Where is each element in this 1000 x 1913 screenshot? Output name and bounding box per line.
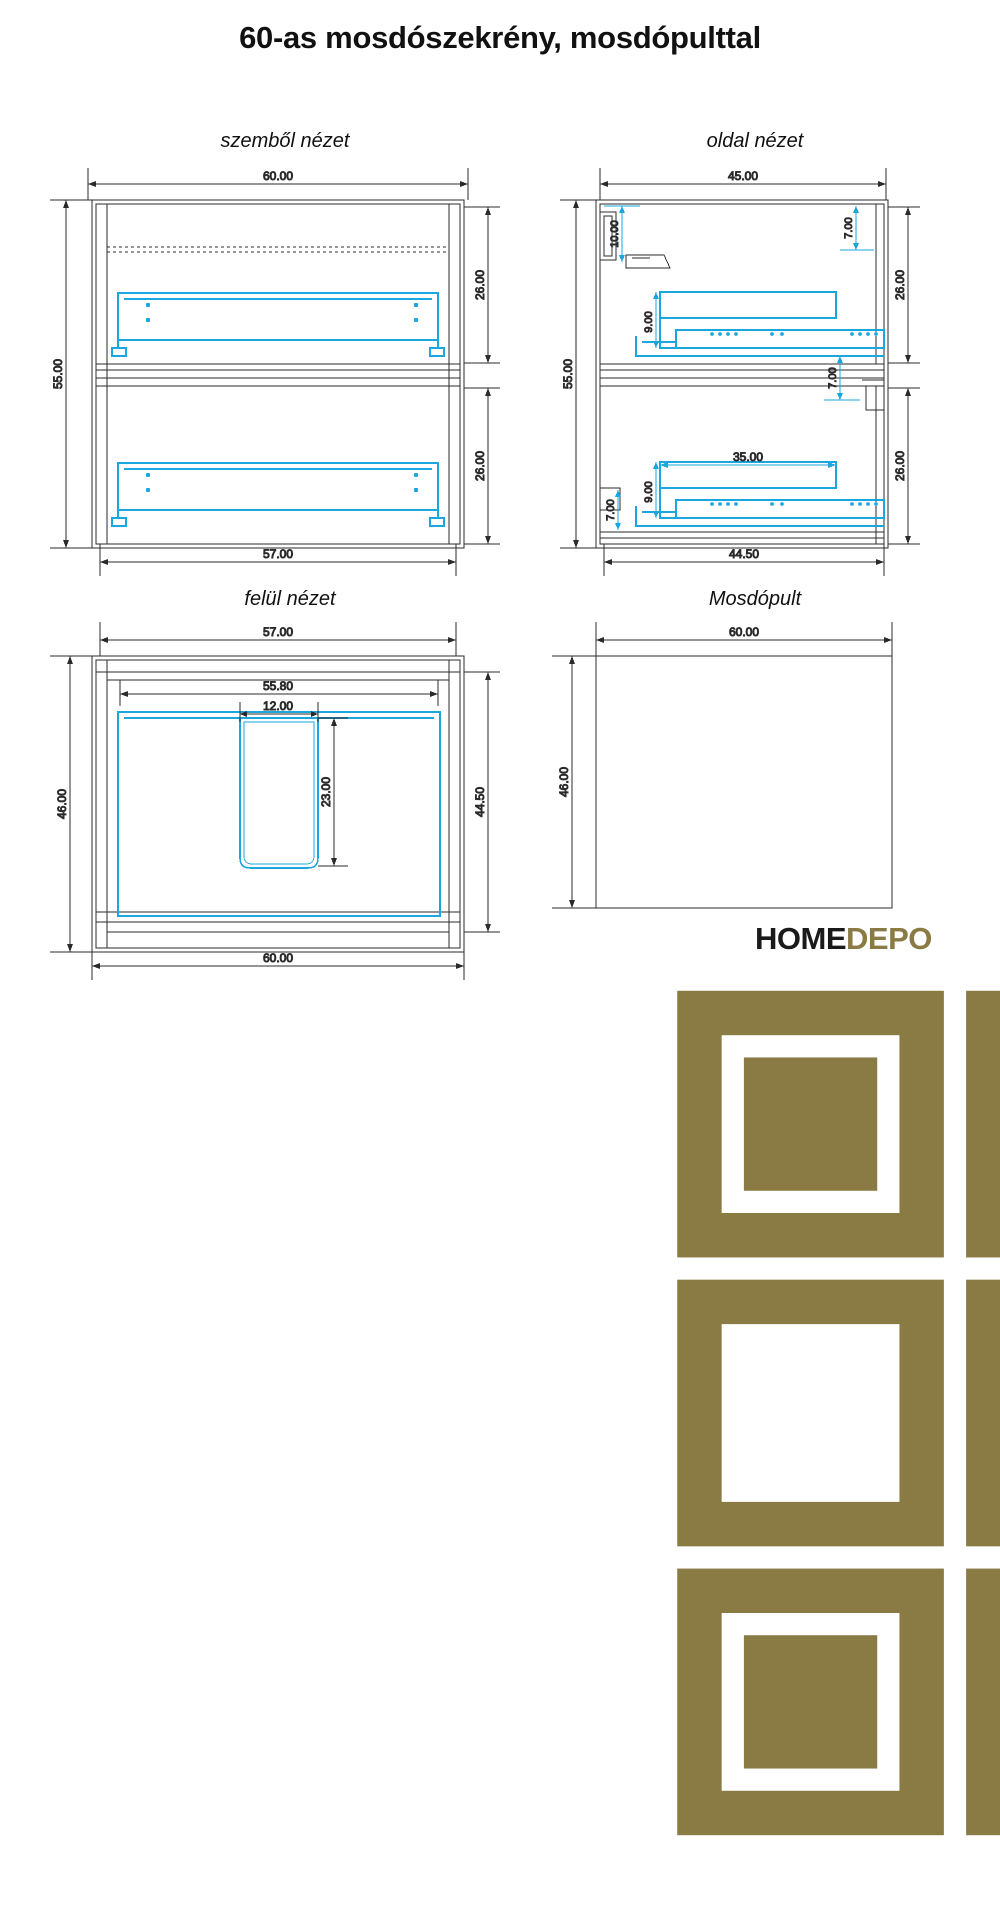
svg-text:35.00: 35.00 bbox=[733, 450, 763, 464]
technical-drawing: 60.00 bbox=[0, 0, 1000, 1000]
svg-text:45.00: 45.00 bbox=[728, 169, 758, 183]
svg-text:9.00: 9.00 bbox=[643, 311, 655, 332]
svg-text:7.00: 7.00 bbox=[827, 367, 839, 388]
svg-text:26.00: 26.00 bbox=[473, 270, 487, 300]
logo-text-home: HOME bbox=[755, 921, 846, 956]
svg-text:23.00: 23.00 bbox=[319, 777, 333, 807]
svg-text:44.50: 44.50 bbox=[729, 547, 759, 561]
svg-text:44.50: 44.50 bbox=[473, 787, 487, 817]
svg-text:26.00: 26.00 bbox=[473, 451, 487, 481]
svg-text:9.00: 9.00 bbox=[643, 481, 655, 502]
svg-text:12.00: 12.00 bbox=[263, 699, 293, 713]
svg-text:7.00: 7.00 bbox=[605, 499, 617, 520]
logo: HOMEDEPO bbox=[655, 905, 995, 985]
svg-text:55.80: 55.80 bbox=[263, 679, 293, 693]
svg-text:60.00: 60.00 bbox=[729, 625, 759, 639]
svg-text:55.00: 55.00 bbox=[561, 359, 575, 389]
svg-text:26.00: 26.00 bbox=[893, 270, 907, 300]
svg-text:46.00: 46.00 bbox=[557, 767, 571, 797]
svg-text:55.00: 55.00 bbox=[51, 359, 65, 389]
svg-text:26.00: 26.00 bbox=[893, 451, 907, 481]
logo-text-depo: DEPO bbox=[846, 921, 932, 956]
svg-text:60.00: 60.00 bbox=[263, 951, 293, 965]
svg-text:60.00: 60.00 bbox=[263, 169, 293, 183]
svg-text:46.00: 46.00 bbox=[55, 789, 69, 819]
svg-text:57.00: 57.00 bbox=[263, 625, 293, 639]
logo-grid-icon bbox=[655, 913, 1000, 1913]
svg-text:7.00: 7.00 bbox=[843, 217, 855, 238]
svg-text:57.00: 57.00 bbox=[263, 547, 293, 561]
svg-text:10.00: 10.00 bbox=[609, 220, 621, 248]
